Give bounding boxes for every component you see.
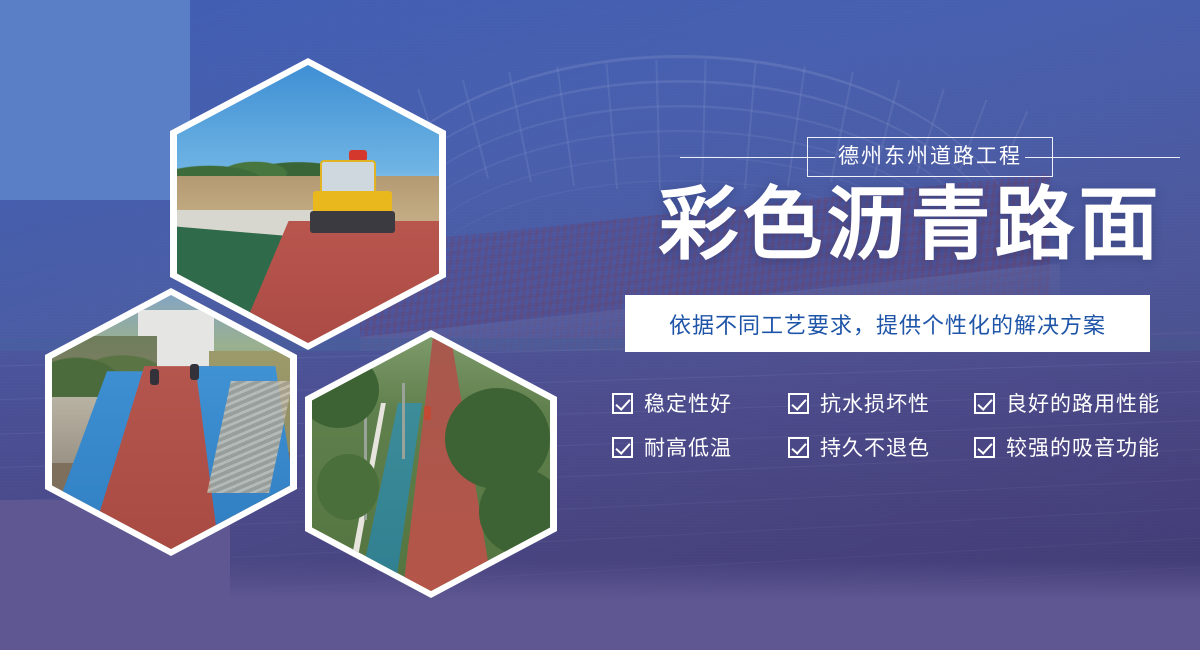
feature-label: 抗水损坏性 (820, 388, 930, 418)
feature-label: 稳定性好 (644, 388, 732, 418)
brand-tag-label: 德州东州道路工程 (807, 137, 1053, 176)
photo-tree (317, 454, 379, 520)
feature-item: 稳定性好 (612, 388, 788, 418)
photo-scooter-rider (150, 369, 159, 385)
subtitle-banner: 依据不同工艺要求，提供个性化的解决方案 (625, 295, 1150, 352)
background-corner-top-left (0, 0, 190, 200)
feature-item: 持久不退色 (788, 432, 974, 462)
feature-item: 耐高低温 (612, 432, 788, 462)
feature-item: 抗水损坏性 (788, 388, 974, 418)
check-icon (788, 393, 809, 414)
feature-list: 稳定性好 抗水损坏性 良好的路用性能 耐高低温 持久不退色 (612, 388, 1192, 476)
promo-banner: 德州东州道路工程 彩色沥青路面 依据不同工艺要求，提供个性化的解决方案 稳定性好… (0, 0, 1200, 650)
photo-scooter-rider (190, 364, 199, 380)
check-icon (612, 437, 633, 458)
feature-item: 较强的吸音功能 (974, 432, 1160, 462)
brand-tag: 德州东州道路工程 (680, 134, 1180, 180)
feature-row: 稳定性好 抗水损坏性 良好的路用性能 (612, 388, 1192, 418)
feature-label: 良好的路用性能 (1006, 388, 1160, 418)
check-icon (974, 437, 995, 458)
feature-item: 良好的路用性能 (974, 388, 1160, 418)
feature-label: 持久不退色 (820, 432, 930, 462)
photo-pedestrian (424, 406, 431, 420)
photo-road-roller (313, 160, 392, 238)
photo-roller-cab (320, 160, 377, 195)
check-icon (612, 393, 633, 414)
feature-label: 较强的吸音功能 (1006, 432, 1160, 462)
check-icon (788, 437, 809, 458)
feature-label: 耐高低温 (644, 432, 732, 462)
feature-row: 耐高低温 持久不退色 较强的吸音功能 (612, 432, 1192, 462)
photo-roller-drum (310, 211, 395, 233)
page-title: 彩色沥青路面 (638, 185, 1183, 265)
content-column: 德州东州道路工程 彩色沥青路面 依据不同工艺要求，提供个性化的解决方案 稳定性好… (600, 0, 1200, 650)
photo-lamp-post (402, 383, 405, 459)
check-icon (974, 393, 995, 414)
